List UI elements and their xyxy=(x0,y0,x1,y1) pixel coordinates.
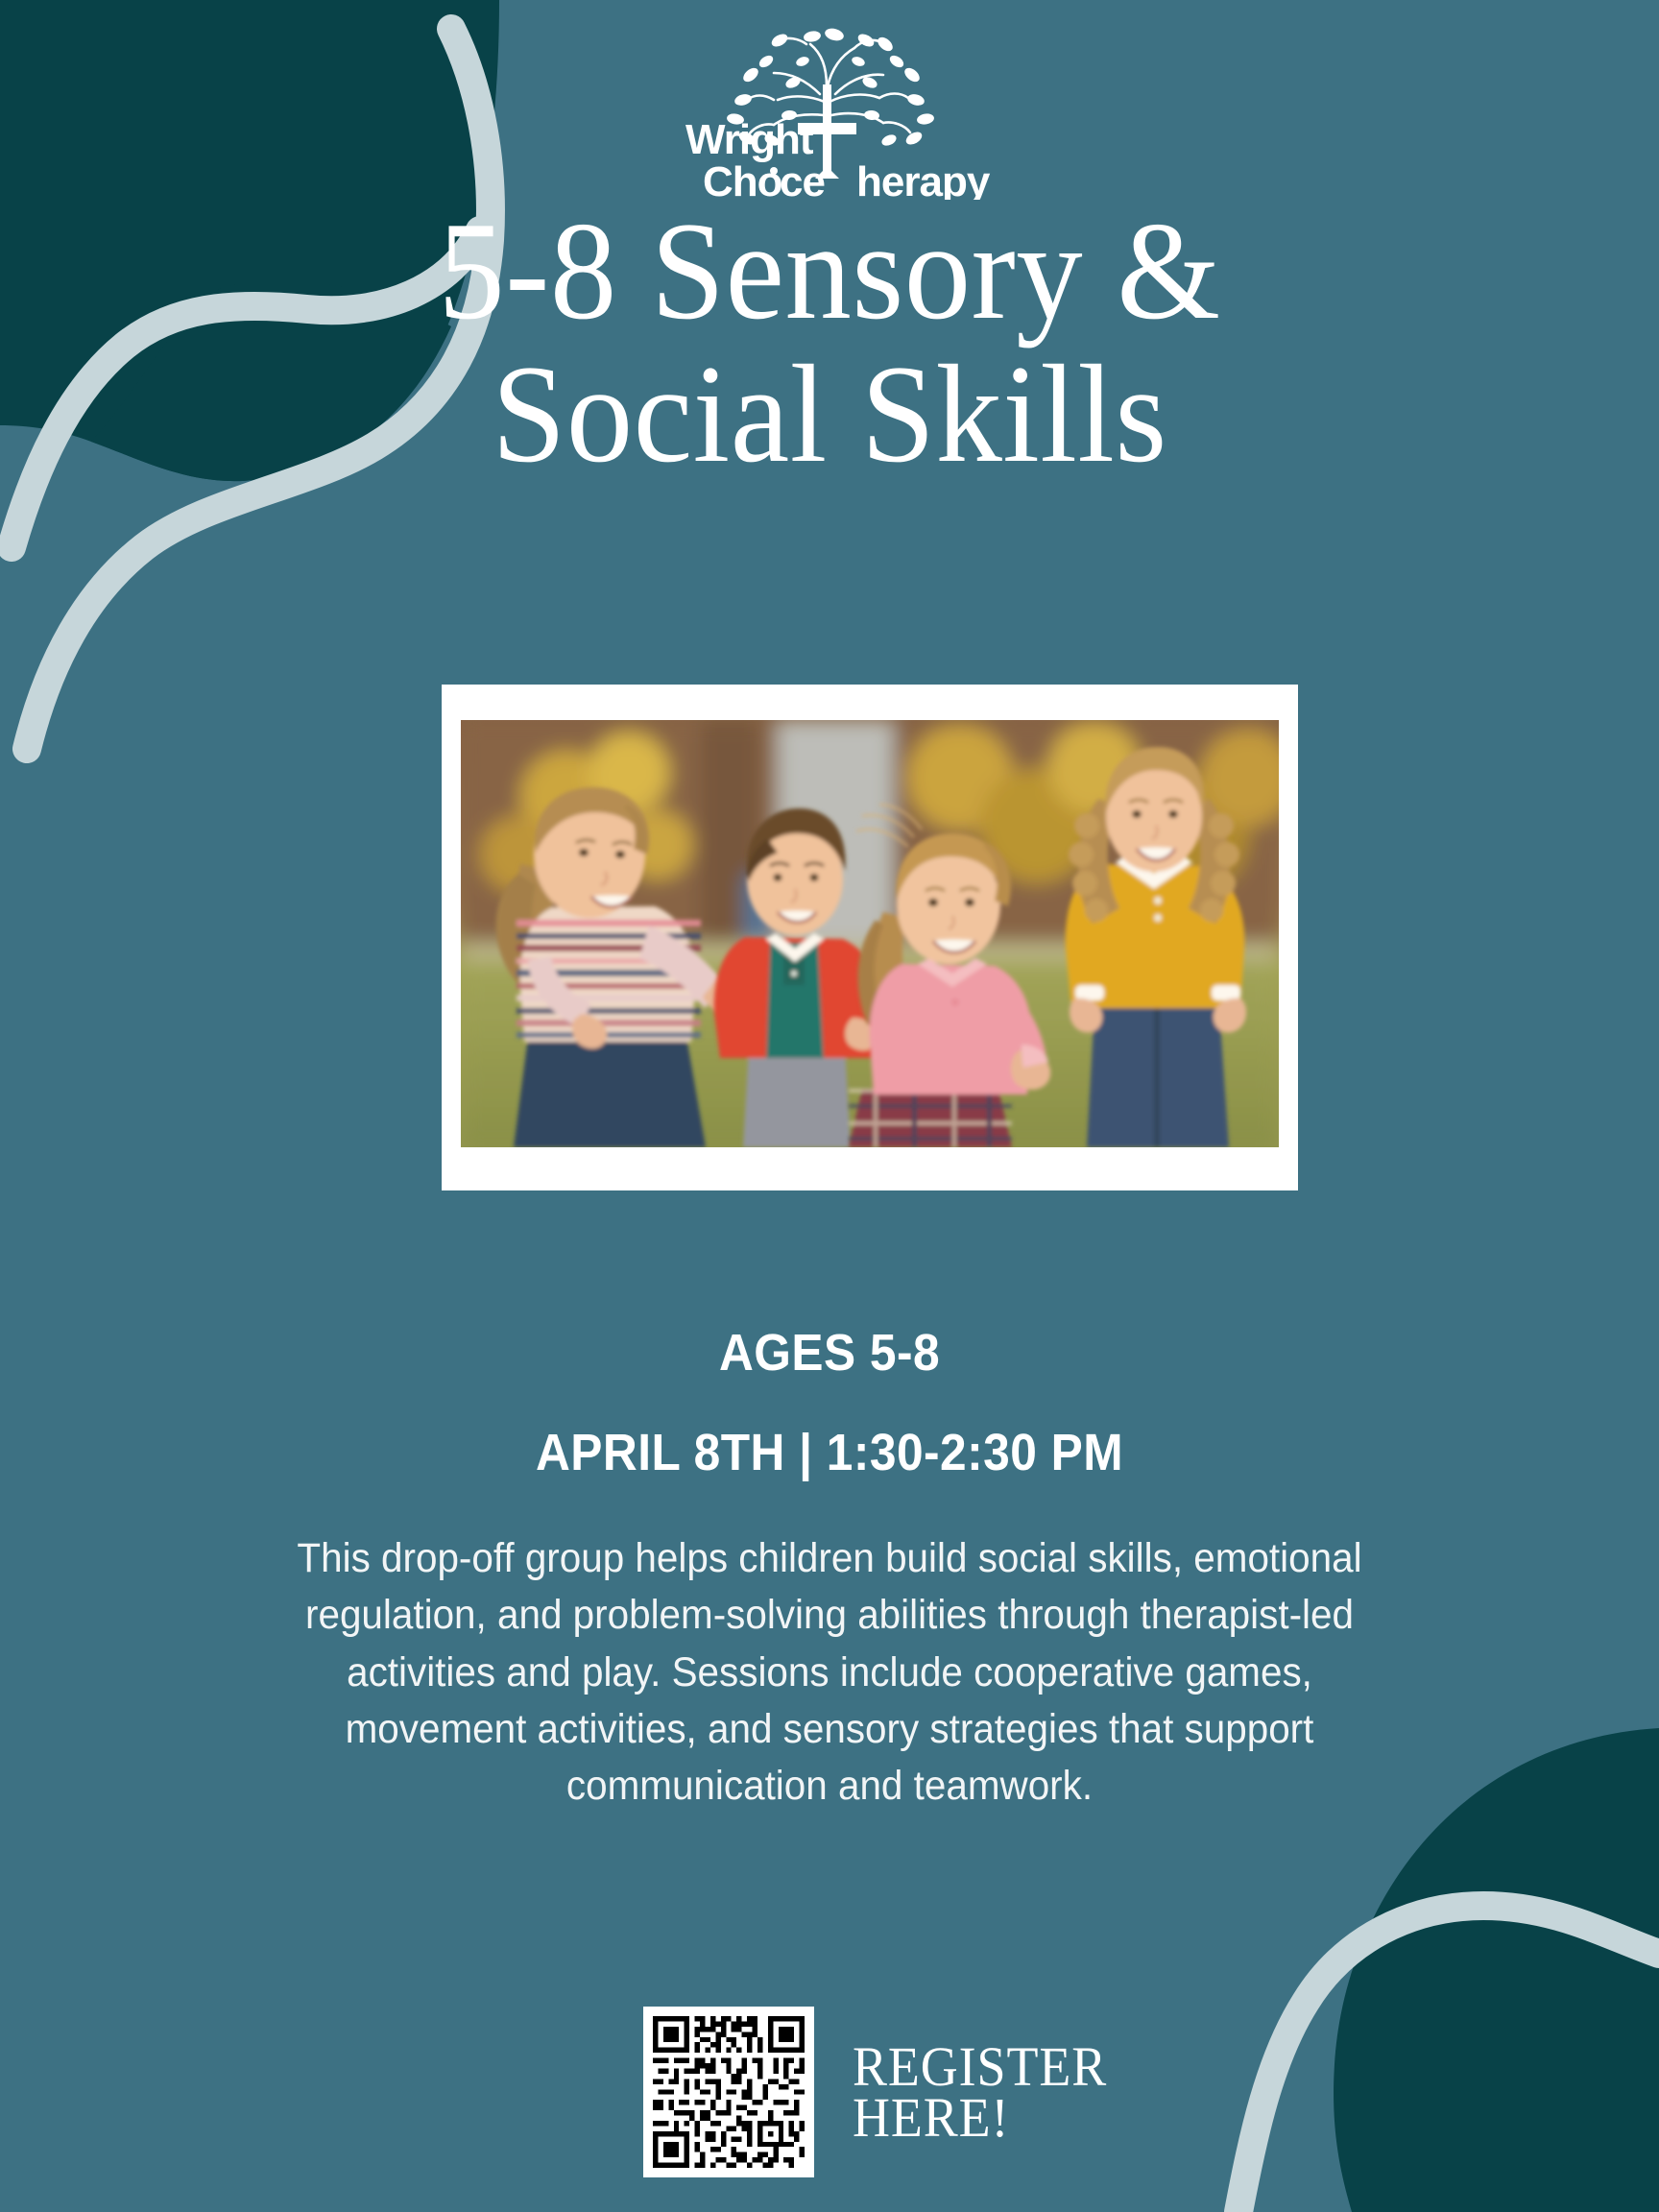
register-section[interactable]: REGISTER HERE! xyxy=(643,2007,1126,2177)
bottom-right-ribbon xyxy=(1238,1906,1659,2212)
title-line-1: 5-8 Sensory & xyxy=(41,200,1618,343)
ages-label: AGES 5-8 xyxy=(66,1323,1593,1382)
logo-i-dot xyxy=(770,167,778,175)
photo-frame xyxy=(442,685,1298,1190)
hero-photo-illustration xyxy=(461,720,1279,1147)
qr-code[interactable] xyxy=(643,2007,814,2177)
datetime-label: APRIL 8TH | 1:30-2:30 PM xyxy=(66,1423,1593,1482)
hero-photo xyxy=(461,720,1279,1147)
logo-svg: Wright Cho ce herapy xyxy=(628,27,1031,200)
title-line-2: Social Skills xyxy=(41,343,1618,486)
page-title: 5-8 Sensory & Social Skills xyxy=(41,200,1618,486)
register-here-label[interactable]: REGISTER HERE! xyxy=(853,2041,1107,2144)
logo: Wright Cho ce herapy xyxy=(628,27,1031,200)
description-text: This drop-off group helps children build… xyxy=(280,1530,1380,1815)
bottom-right-dark-blob xyxy=(1334,1728,1659,2212)
qr-code-svg xyxy=(653,2016,805,2168)
register-line-1: REGISTER xyxy=(853,2041,1107,2092)
poster-canvas: Wright Cho ce herapy 5-8 Sensory & Socia… xyxy=(0,0,1659,2212)
logo-text-line1: Wright xyxy=(685,116,814,163)
register-line-2: HERE! xyxy=(853,2092,1107,2143)
